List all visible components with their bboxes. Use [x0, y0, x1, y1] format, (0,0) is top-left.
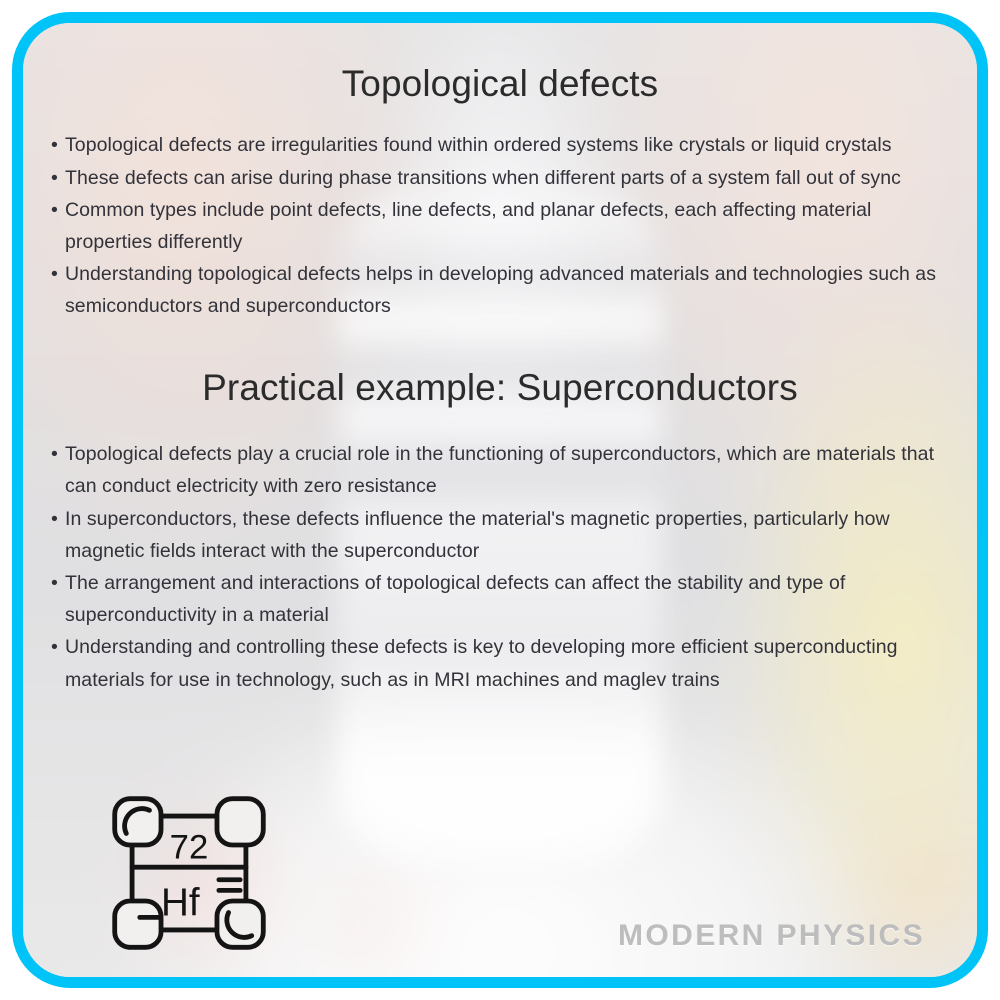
list-item: Understanding topological defects helps … [51, 258, 949, 322]
list-item: The arrangement and interactions of topo… [51, 567, 949, 631]
slide-canvas: Topological defects Topological defects … [0, 0, 1000, 1000]
list-item: In superconductors, these defects influe… [51, 503, 949, 567]
section-title-practical-example: Practical example: Superconductors [51, 367, 949, 408]
bullet-list-topological-defects: Topological defects are irregularities f… [51, 129, 949, 322]
slide-frame: Topological defects Topological defects … [12, 12, 988, 988]
list-item: Common types include point defects, line… [51, 194, 949, 258]
page-title: Topological defects [51, 63, 949, 104]
periodic-element-tile-icon: 72 Hf [107, 791, 271, 955]
watermark-brand: MODERN PHYSICS [618, 919, 925, 953]
element-symbol: Hf [161, 881, 200, 924]
element-atomic-number: 72 [170, 829, 209, 867]
list-item: Topological defects are irregularities f… [51, 129, 949, 161]
list-item: Understanding and controlling these defe… [51, 631, 949, 695]
bullet-list-superconductors: Topological defects play a crucial role … [51, 438, 949, 696]
list-item: Topological defects play a crucial role … [51, 438, 949, 502]
list-item: These defects can arise during phase tra… [51, 162, 949, 194]
